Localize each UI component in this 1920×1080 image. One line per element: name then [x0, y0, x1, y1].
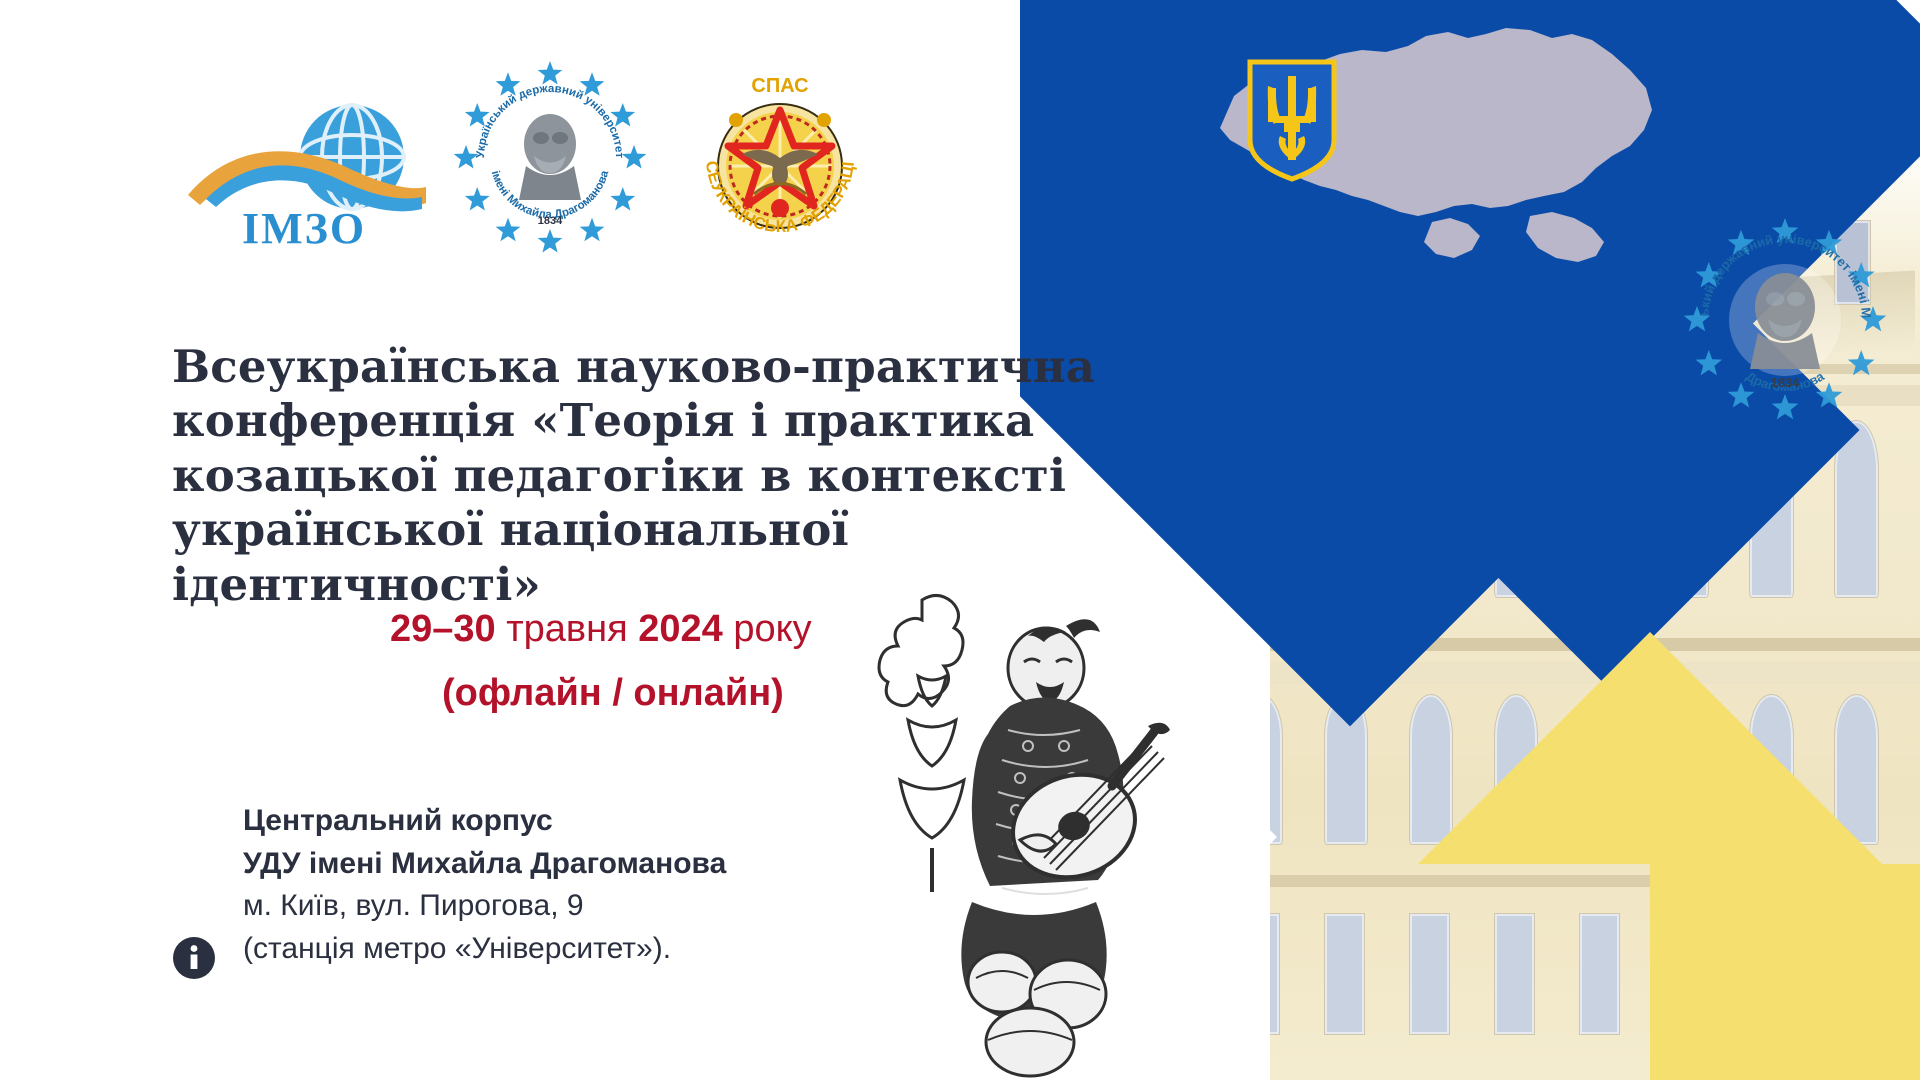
date-month: травня: [496, 608, 639, 650]
date-days: 29–30: [390, 608, 496, 650]
venue-line-2: УДУ імені Михайла Драгоманова: [243, 843, 883, 886]
star-icon: [580, 218, 605, 242]
dragomanov-university-seal-watermark: Український державний університет імені …: [1680, 215, 1890, 425]
cossack-bandura-player-illustration: [860, 590, 1180, 1080]
date-year: 2024: [638, 608, 723, 650]
venue-line-4: (станція метро «Університет»).: [243, 928, 883, 971]
star-icon: [465, 187, 490, 211]
star-icon: [622, 145, 647, 169]
star-icon: [1772, 394, 1799, 419]
building-window: [1579, 913, 1621, 1036]
star-icon: [538, 229, 563, 253]
imzo-logo: ІМЗО: [170, 95, 430, 245]
venue-line-3: м. Київ, вул. Пирогова, 9: [243, 885, 883, 928]
star-icon: [1728, 382, 1755, 407]
building-window: [1494, 913, 1536, 1036]
spas-top-text: СПАС: [751, 75, 808, 97]
title-line-2: конференція «Теорія і практика: [172, 394, 1112, 448]
star-icon: [1816, 382, 1843, 407]
star-icon: [1695, 350, 1722, 375]
title-line-1: Всеукраїнська науково-практична: [172, 340, 1112, 394]
yellow-block-shape: [1650, 864, 1920, 1080]
conference-date: 29–30 травня 2024 року: [390, 608, 812, 651]
star-icon: [496, 218, 521, 242]
imzo-abbr: ІМЗО: [242, 203, 366, 254]
building-window: [1409, 913, 1451, 1036]
building-window: [1324, 913, 1366, 1036]
venue-line-1: Центральний корпус: [243, 800, 883, 843]
conference-poster: Український державний університет імені …: [0, 0, 1920, 1080]
star-icon: [454, 145, 479, 169]
venue-address: Центральний корпус УДУ імені Михайла Дра…: [243, 800, 883, 970]
globe-wave-icon: [188, 105, 426, 211]
ukraine-trident-coat-of-arms: [1246, 58, 1338, 183]
yellow-triangle-shape: [1418, 632, 1882, 864]
svg-text:1834: 1834: [538, 215, 563, 227]
star-icon: [496, 72, 521, 96]
svg-text:1834: 1834: [1771, 375, 1801, 390]
dragomanov-university-seal: Український державний університет імені …: [450, 58, 650, 258]
date-suffix: року: [723, 608, 812, 650]
title-line-4: української національної: [172, 503, 1112, 557]
info-icon: [172, 936, 216, 980]
conference-mode: (офлайн / онлайн): [442, 672, 784, 715]
star-icon: [610, 187, 635, 211]
title-line-3: козацької педагогіки в контексті: [172, 449, 1112, 503]
star-icon: [1848, 350, 1875, 375]
conference-title: Всеукраїнська науково-практичнаконференц…: [172, 340, 1112, 612]
star-icon: [538, 61, 563, 85]
logo-row: ІМЗО Український державний університ: [150, 40, 1010, 240]
spas-federation-emblem: СПАС ВСЕУКРАЇНСЬКА ФЕДЕРАЦІЯ: [680, 58, 880, 258]
